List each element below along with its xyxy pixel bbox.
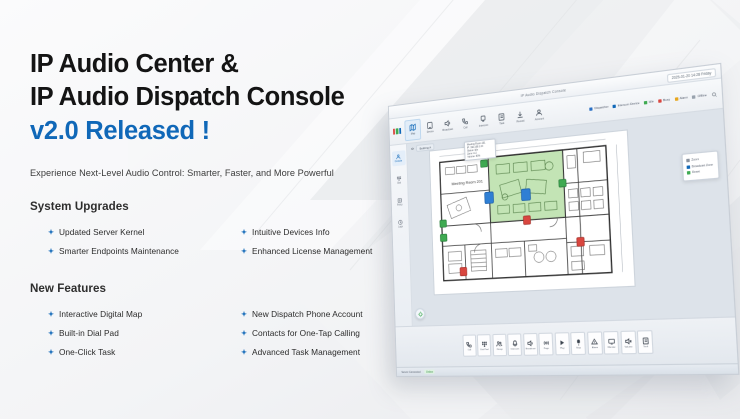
section-title: System Upgrades bbox=[30, 200, 410, 213]
dock-button-label: Dial Pad bbox=[480, 348, 488, 350]
device-marker-dispatcher[interactable] bbox=[485, 192, 494, 204]
device-marker-busy[interactable] bbox=[460, 267, 467, 276]
monitor-icon bbox=[607, 337, 615, 345]
app-window: IP Audio Dispatch Console 2025-01-20 14:… bbox=[388, 63, 740, 377]
legend-dot-icon bbox=[590, 107, 593, 111]
panel-label: Reset bbox=[692, 170, 700, 174]
legend-chip: Busy bbox=[658, 97, 670, 103]
app-screenshot-stage: IP Audio Dispatch Console 2025-01-20 14:… bbox=[392, 104, 722, 384]
dock-button-group[interactable]: Group bbox=[492, 334, 507, 357]
locate-icon bbox=[417, 311, 423, 317]
toolbar-button-intercom[interactable]: Intercom bbox=[474, 109, 492, 132]
diamond-bullet-icon bbox=[48, 330, 54, 336]
legend-dot-icon bbox=[644, 100, 647, 104]
device-marker-busy[interactable] bbox=[523, 216, 530, 225]
feature-item: Interactive Digital Map bbox=[30, 304, 223, 323]
dock-button-play[interactable]: Play bbox=[554, 332, 570, 355]
toolbar-button-call[interactable]: Call bbox=[457, 112, 475, 135]
toolbar-button-broadcast[interactable]: Broadcast bbox=[439, 114, 456, 137]
task-icon bbox=[641, 336, 649, 344]
dock-button-broadcast[interactable]: Broadcast bbox=[523, 333, 538, 356]
legend-label: Idle bbox=[649, 99, 654, 104]
dock-button-label: Alarm bbox=[592, 346, 598, 348]
feature-label: Advanced Task Management bbox=[252, 347, 360, 357]
panel-row-reset[interactable]: Reset bbox=[686, 168, 715, 177]
floor-plan-drawing: Meeting Room 201 bbox=[430, 131, 635, 295]
diamond-bullet-icon bbox=[241, 330, 247, 336]
device-marker-idle[interactable] bbox=[481, 160, 488, 168]
feature-item: One-Click Task bbox=[30, 342, 223, 361]
feature-label: Updated Server Kernel bbox=[59, 227, 144, 237]
app-title: IP Audio Dispatch Console bbox=[521, 88, 567, 98]
diamond-bullet-icon bbox=[241, 248, 247, 254]
panel-label: Zoom bbox=[691, 158, 699, 162]
intercom-icon bbox=[511, 339, 518, 347]
diamond-bullet-icon bbox=[48, 349, 54, 355]
toolbar-legend: Dispatcher Intercom Device Idle Busy Ala… bbox=[590, 91, 718, 111]
feature-label: Contacts for One-Tap Calling bbox=[252, 328, 360, 338]
legend-dot-icon bbox=[692, 95, 696, 99]
legend-dot-icon bbox=[658, 99, 662, 103]
section-system-upgrades: System Upgrades Updated Server Kernel In… bbox=[30, 200, 410, 260]
legend-label: Alarm bbox=[679, 95, 688, 100]
diamond-bullet-icon bbox=[48, 229, 54, 235]
toolbar-button-device[interactable]: Device bbox=[422, 116, 439, 139]
device-marker-idle[interactable] bbox=[559, 179, 566, 187]
volume-icon bbox=[624, 337, 632, 345]
feature-item: Smarter Endpoints Maintenance bbox=[30, 241, 223, 260]
legend-label: Offline bbox=[697, 93, 706, 99]
dock-button-label: Volume bbox=[624, 346, 632, 348]
dock-button-label: Group bbox=[497, 348, 503, 350]
feature-item: Updated Server Kernel bbox=[30, 222, 223, 241]
dock-button-label: Stop bbox=[576, 347, 581, 349]
feature-item: Enhanced License Management bbox=[223, 241, 410, 260]
dock-button-label: Intercom bbox=[511, 348, 520, 350]
toolbar-button-label: Map bbox=[411, 132, 415, 135]
reset-icon bbox=[686, 171, 690, 175]
hero-content: IP Audio Center & IP Audio Dispatch Cons… bbox=[30, 48, 410, 361]
headline-accent: v2.0 Released ! bbox=[30, 115, 410, 148]
record-icon bbox=[516, 110, 524, 119]
feature-label: One-Click Task bbox=[59, 347, 115, 357]
diamond-bullet-icon bbox=[241, 229, 247, 235]
call-icon bbox=[461, 117, 469, 126]
dock-button-label: Play bbox=[560, 347, 565, 349]
device-marker-idle[interactable] bbox=[440, 220, 447, 228]
legend-label: Intercom Device bbox=[617, 101, 639, 108]
map-icon bbox=[409, 123, 416, 132]
feature-label: Interactive Digital Map bbox=[59, 309, 142, 319]
dock-button-intercom[interactable]: Intercom bbox=[507, 333, 522, 356]
device-marker-dispatcher[interactable] bbox=[521, 189, 530, 201]
dock-button-label: Broadcast bbox=[526, 348, 536, 350]
dock-button-page[interactable]: Page bbox=[539, 333, 554, 356]
headline-line-2: IP Audio Dispatch Console bbox=[30, 81, 410, 114]
feature-label: Smarter Endpoints Maintenance bbox=[59, 246, 179, 256]
group-icon bbox=[496, 340, 503, 348]
map-workspace: Building A bbox=[407, 109, 735, 326]
toolbar-button-label: Task bbox=[499, 122, 504, 126]
app-body: Console Dial Policy bbox=[390, 109, 735, 326]
zoom-icon bbox=[686, 159, 690, 163]
feature-item: New Dispatch Phone Account bbox=[223, 304, 410, 323]
section-title: New Features bbox=[30, 282, 410, 295]
dock-button-stop[interactable]: Stop bbox=[570, 332, 586, 355]
feature-grid: Interactive Digital Map New Dispatch Pho… bbox=[30, 304, 410, 361]
legend-dot-icon bbox=[674, 97, 678, 101]
toolbar-button-label: Call bbox=[463, 126, 467, 130]
diamond-bullet-icon bbox=[241, 349, 247, 355]
legend-label: Dispatcher bbox=[594, 104, 608, 110]
headline-line-1: IP Audio Center & bbox=[30, 48, 410, 81]
status-text: Server Connected bbox=[401, 370, 420, 373]
diamond-bullet-icon bbox=[241, 311, 247, 317]
map-tools-panel: Zoom Broadcast Zone Reset bbox=[681, 150, 719, 181]
page-icon bbox=[542, 339, 549, 347]
layers-icon bbox=[411, 147, 415, 151]
toolbar-button-label: Broadcast bbox=[442, 128, 453, 132]
section-new-features: New Features Interactive Digital Map New… bbox=[30, 282, 410, 361]
locate-button[interactable] bbox=[415, 308, 425, 320]
feature-item: Intuitive Devices Info bbox=[223, 222, 410, 241]
dock-button-volume[interactable]: Volume bbox=[620, 331, 637, 355]
play-icon bbox=[558, 338, 566, 346]
dock-button-task[interactable]: Task bbox=[637, 330, 654, 354]
task-icon bbox=[498, 112, 506, 121]
toolbar-button-label: Record bbox=[516, 119, 524, 123]
dock-button-alarm[interactable]: Alarm bbox=[587, 331, 603, 355]
device-marker-idle[interactable] bbox=[440, 234, 447, 241]
status-badge: Online bbox=[424, 370, 435, 374]
feature-label: Intuitive Devices Info bbox=[252, 227, 330, 237]
dial-pad-icon bbox=[481, 340, 488, 348]
account-icon bbox=[535, 108, 543, 117]
feature-grid: Updated Server Kernel Intuitive Devices … bbox=[30, 222, 410, 260]
device-icon bbox=[426, 121, 434, 130]
legend-chip: Alarm bbox=[674, 95, 688, 101]
stop-icon bbox=[574, 338, 582, 346]
dock-button-dial-pad[interactable]: Dial Pad bbox=[477, 334, 491, 356]
feature-item: Contacts for One-Tap Calling bbox=[223, 323, 410, 342]
dock-button-label: Task bbox=[643, 345, 648, 347]
dock-button-label: Call bbox=[468, 349, 472, 351]
broadcast-icon bbox=[444, 119, 452, 128]
toolbar-button-label: Intercom bbox=[479, 124, 488, 128]
feature-label: Built-in Dial Pad bbox=[59, 328, 119, 338]
toolbar-button-label: Device bbox=[427, 130, 434, 134]
feature-label: Enhanced License Management bbox=[252, 246, 372, 256]
call-icon bbox=[466, 340, 473, 347]
broadcast-icon bbox=[527, 339, 534, 347]
hero-subtitle: Experience Next-Level Audio Control: Sma… bbox=[30, 168, 410, 178]
legend-chip: Dispatcher bbox=[590, 104, 609, 110]
toolbar-button-record[interactable]: Record bbox=[511, 105, 530, 129]
zone-icon bbox=[686, 165, 690, 169]
floor-plan-canvas[interactable]: Meeting Room 201 bbox=[429, 129, 636, 295]
legend-label: Busy bbox=[663, 97, 670, 102]
legend-chip: Intercom Device bbox=[613, 101, 640, 108]
dock-button-label: Monitor bbox=[608, 346, 616, 348]
search-icon[interactable] bbox=[711, 91, 717, 97]
legend-dot-icon bbox=[613, 104, 616, 108]
intercom-icon bbox=[479, 115, 487, 124]
legend-chip: Offline bbox=[692, 93, 707, 99]
feature-item: Built-in Dial Pad bbox=[30, 323, 223, 342]
toolbar-button-label: Account bbox=[535, 117, 544, 121]
legend-chip: Idle bbox=[644, 99, 654, 105]
toolbar-button-account[interactable]: Account bbox=[530, 103, 549, 127]
feature-item: Advanced Task Management bbox=[223, 342, 410, 361]
dock-button-label: Page bbox=[544, 347, 549, 349]
dock-button-call[interactable]: Call bbox=[462, 334, 476, 356]
map-room-label: Meeting Room 201 bbox=[451, 179, 483, 186]
dock-button-monitor[interactable]: Monitor bbox=[603, 331, 619, 355]
device-marker-busy[interactable] bbox=[577, 237, 585, 246]
alarm-icon bbox=[591, 338, 599, 346]
toolbar-button-task[interactable]: Task bbox=[493, 107, 511, 131]
diamond-bullet-icon bbox=[48, 311, 54, 317]
map-device-popup[interactable]: Meeting Room 201 IP: 192.168.1.24 Status… bbox=[464, 138, 496, 161]
diamond-bullet-icon bbox=[48, 248, 54, 254]
feature-label: New Dispatch Phone Account bbox=[252, 309, 363, 319]
